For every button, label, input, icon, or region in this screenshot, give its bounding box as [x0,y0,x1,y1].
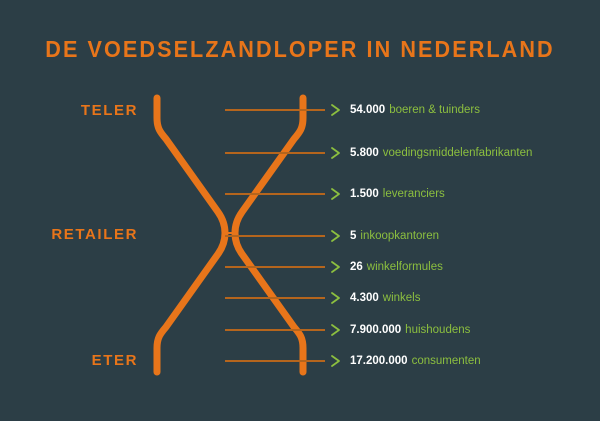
row-value: 1.500 [350,188,379,200]
row-label: voedingsmiddelenfabrikanten [383,147,533,159]
chevron-right-icon [328,353,344,369]
data-row: 5 inkoopkantoren [225,226,439,246]
row-label: consumenten [412,355,481,367]
row-value: 5.800 [350,147,379,159]
row-value: 7.900.000 [350,324,401,336]
chevron-right-icon [328,102,344,118]
connector-line [225,109,325,111]
row-value: 17.200.000 [350,355,408,367]
connector-line [225,266,325,268]
data-row: 17.200.000 consumenten [225,351,481,371]
chevron-right-icon [328,145,344,161]
row-label: boeren & tuinders [389,104,480,116]
data-row: 4.300 winkels [225,288,421,308]
infographic-canvas: DE VOEDSELZANDLOPER IN NEDERLAND TELER R… [0,0,600,421]
row-value: 54.000 [350,104,385,116]
chevron-right-icon [328,322,344,338]
connector-line [225,329,325,331]
row-label: inkoopkantoren [360,230,439,242]
connector-line [225,152,325,154]
row-label: winkelformules [367,261,443,273]
connector-line [225,193,325,195]
stage-label-retailer: RETAILER [18,226,138,243]
row-value: 5 [350,230,356,242]
row-label: huishoudens [405,324,470,336]
chevron-right-icon [328,228,344,244]
row-value: 26 [350,261,363,273]
chevron-right-icon [328,290,344,306]
data-row: 7.900.000 huishoudens [225,320,470,340]
connector-line [225,235,325,237]
connector-line [225,297,325,299]
row-value: 4.300 [350,292,379,304]
hourglass-left-strand [157,98,225,372]
stage-label-teler: TELER [18,102,138,119]
data-row: 1.500 leveranciers [225,184,445,204]
stage-label-eter: ETER [18,352,138,369]
page-title: DE VOEDSELZANDLOPER IN NEDERLAND [18,36,582,63]
connector-line [225,360,325,362]
row-label: winkels [383,292,421,304]
chevron-right-icon [328,186,344,202]
data-row: 5.800 voedingsmiddelenfabrikanten [225,143,532,163]
data-row: 54.000 boeren & tuinders [225,100,480,120]
row-label: leveranciers [383,188,445,200]
chevron-right-icon [328,259,344,275]
data-row: 26 winkelformules [225,257,443,277]
